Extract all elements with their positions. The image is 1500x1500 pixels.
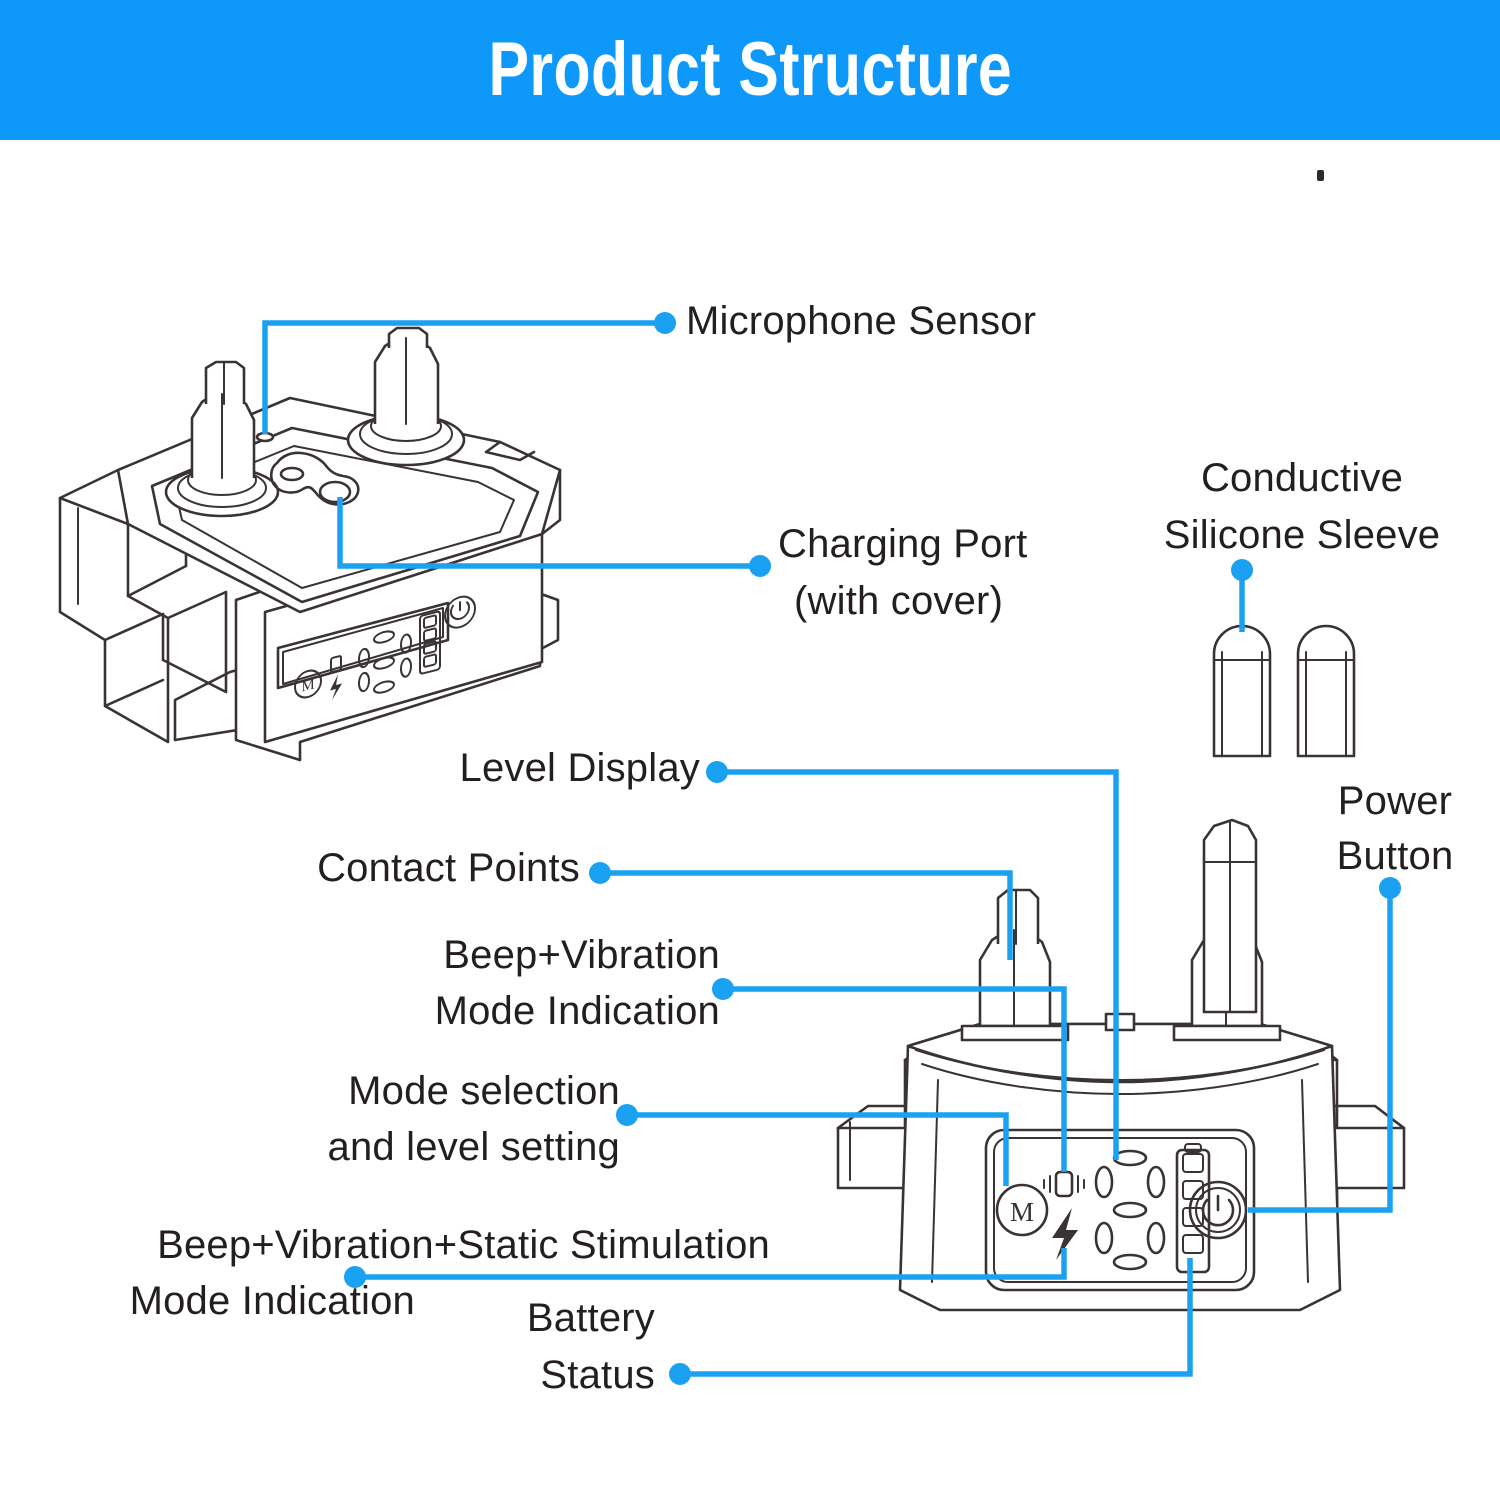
svg-text:M: M	[1010, 1197, 1034, 1227]
svg-text:M: M	[301, 675, 315, 695]
diagram-artwork: .ln{fill:none;stroke:#3a3335;stroke-widt…	[0, 0, 1500, 1500]
diagram-canvas: Product Structure Microphone Sensor Char…	[0, 0, 1500, 1500]
leader-contact-points	[589, 862, 1010, 960]
conductive-silicone-sleeve-pair	[1214, 626, 1354, 756]
leader-silicone-sleeve	[1231, 559, 1253, 632]
receiver-three-quarter-view: M	[60, 328, 560, 760]
receiver-front-view: M	[838, 820, 1404, 1310]
